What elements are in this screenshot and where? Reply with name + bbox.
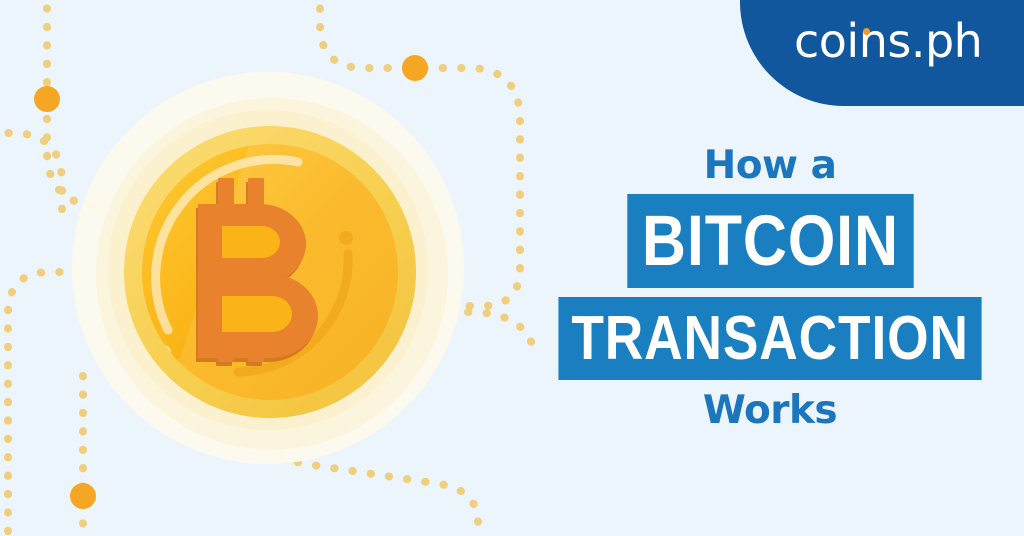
- headline-band-transaction: TRANSACTION: [558, 297, 981, 380]
- infographic-canvas: coins.ph How a BITCOIN TRANSACTION Works: [0, 0, 1024, 536]
- brand-accent-dot: [863, 28, 870, 35]
- headline-block: How a BITCOIN TRANSACTION Works: [570, 146, 970, 431]
- headline-band-one-row: BITCOIN: [570, 194, 970, 288]
- headline-band-two-row: TRANSACTION: [570, 297, 970, 380]
- brand-wordmark: coins.ph: [794, 18, 982, 64]
- network-node: [70, 483, 96, 509]
- network-node: [402, 55, 428, 81]
- network-node: [34, 86, 60, 112]
- headline-closer: Works: [570, 391, 970, 431]
- headline-kicker: How a: [570, 146, 970, 186]
- headline-band-bitcoin: BITCOIN: [627, 194, 913, 288]
